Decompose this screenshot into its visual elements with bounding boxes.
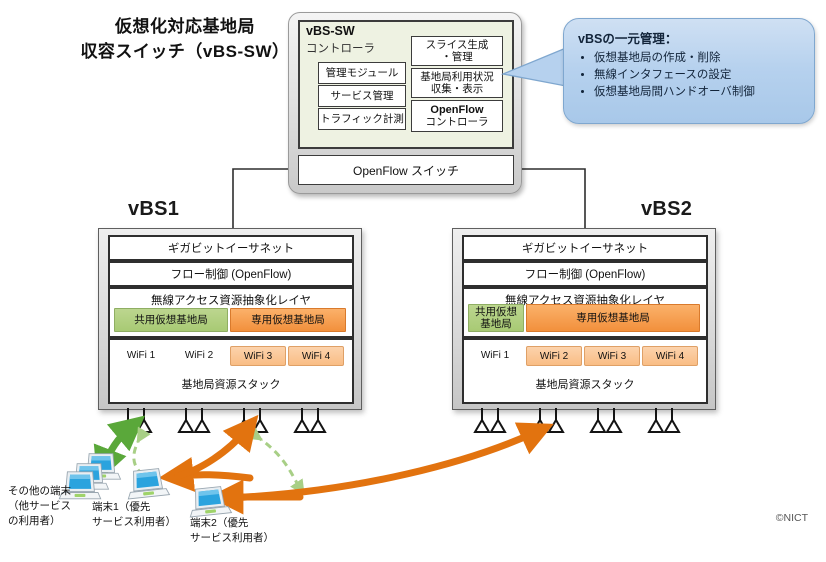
vbs2-shared-vbs-line1: 共用仮想 — [475, 306, 517, 318]
laptop-other-terminals-back — [81, 454, 120, 480]
controller-name: vBS-SW — [306, 24, 355, 38]
controller-subtitle: コントローラ — [306, 40, 375, 56]
callout-item-0: 仮想基地局の作成・削除 — [594, 50, 804, 67]
vbs2-wifi-4[interactable]: WiFi 4 — [642, 346, 698, 366]
copyright-credit: ©NICT — [776, 512, 808, 524]
module-service-management[interactable]: サービス管理 — [318, 85, 406, 107]
module-slice-generation-line2: ・管理 — [441, 51, 473, 63]
vbs1-abstraction-layer-title: 無線アクセス資源抽象化レイヤ — [110, 292, 352, 308]
page-title-line1: 仮想化対応基地局 — [60, 14, 310, 39]
module-usage-collection[interactable]: 基地局利用状況 収集・表示 — [411, 68, 503, 98]
terminal-caption-other-line2: （他サービス — [8, 499, 88, 514]
module-usage-collection-line2: 収集・表示 — [431, 83, 484, 95]
vbs2-dedicated-vbs[interactable]: 専用仮想基地局 — [526, 304, 700, 332]
terminal-caption-1: 端末1（優先 サービス利用者） — [92, 500, 192, 530]
vbs2-wifi-3[interactable]: WiFi 3 — [584, 346, 640, 366]
module-usage-collection-line1: 基地局利用状況 — [420, 71, 494, 83]
arrow-orange-handover-to-vbs2 — [228, 432, 536, 498]
vbs1-wifi-1[interactable]: WiFi 1 — [114, 346, 168, 364]
module-openflow-controller-line2: コントローラ — [426, 116, 489, 128]
callout-item-1: 無線インタフェースの設定 — [594, 67, 804, 84]
vbs2-label: vBS2 — [641, 198, 692, 221]
page-title-line2: 収容スイッチ（vBS-SW） — [60, 39, 310, 64]
terminal-caption-2-line2: サービス利用者） — [190, 531, 300, 546]
vbs1-antenna-4 — [295, 408, 325, 432]
laptop-terminal-1 — [126, 468, 170, 499]
vbs2-antenna-1 — [475, 408, 505, 432]
vbs1-wifi-4[interactable]: WiFi 4 — [288, 346, 344, 366]
callout-box: vBSの一元管理： 仮想基地局の作成・削除 無線インタフェースの設定 仮想基地局… — [563, 18, 815, 124]
vbs1-antenna-1 — [121, 408, 151, 432]
vbs1-stack-caption: 基地局資源スタック — [110, 376, 352, 392]
vbs2-wifi-1[interactable]: WiFi 1 — [468, 346, 522, 364]
vbs1-wifi-3[interactable]: WiFi 3 — [230, 346, 286, 366]
terminal-caption-1-line2: サービス利用者） — [92, 515, 192, 530]
callout-item-2: 仮想基地局間ハンドオーバ制御 — [594, 84, 804, 101]
vbs2-antenna-4 — [649, 408, 679, 432]
diagram-canvas: 仮想化対応基地局 収容スイッチ（vBS-SW） vBS-SW コントローラ 管理… — [0, 0, 826, 562]
module-traffic-measurement[interactable]: トラフィック計測 — [318, 108, 406, 130]
vbs2-shared-vbs[interactable]: 共用仮想 基地局 — [468, 304, 524, 332]
arrow-green-other-terminals — [103, 428, 130, 468]
module-openflow-controller[interactable]: OpenFlow コントローラ — [411, 100, 503, 132]
vbs2-flow-control-box[interactable]: フロー制御 (OpenFlow) — [462, 261, 708, 287]
vbs1-dedicated-vbs[interactable]: 専用仮想基地局 — [230, 308, 346, 332]
vbs1-wifi-2[interactable]: WiFi 2 — [172, 346, 226, 364]
vbs2-wifi-2[interactable]: WiFi 2 — [526, 346, 582, 366]
terminal-caption-other: その他の端末 （他サービス の利用者） — [8, 484, 88, 529]
module-openflow-controller-line1: OpenFlow — [430, 104, 483, 116]
vbs2-antenna-2 — [533, 408, 563, 432]
callout-heading: vBSの一元管理： — [578, 28, 804, 47]
arrow-orange-terminal-to-vbs1 — [178, 430, 246, 476]
laptop-terminal-2 — [188, 486, 232, 517]
module-slice-generation-line1: スライス生成 — [426, 39, 489, 51]
vbs2-shared-vbs-line2: 基地局 — [480, 318, 512, 330]
page-title: 仮想化対応基地局 収容スイッチ（vBS-SW） — [60, 14, 310, 64]
vbs1-ethernet-box[interactable]: ギガビットイーサネット — [108, 235, 354, 261]
vbs2-stack-caption: 基地局資源スタック — [464, 376, 706, 392]
module-slice-generation[interactable]: スライス生成 ・管理 — [411, 36, 503, 66]
terminal-caption-other-line1: その他の端末 — [8, 484, 88, 499]
openflow-switch-box[interactable]: OpenFlow スイッチ — [298, 155, 514, 185]
vbs2-ethernet-box[interactable]: ギガビットイーサネット — [462, 235, 708, 261]
vbs1-label: vBS1 — [128, 198, 179, 221]
arrow-green-dashed-terminal2 — [256, 436, 300, 488]
terminal-caption-2: 端末2（優先 サービス利用者） — [190, 516, 300, 546]
callout-list: 仮想基地局の作成・削除 無線インタフェースの設定 仮想基地局間ハンドオーバ制御 — [578, 50, 804, 101]
module-management[interactable]: 管理モジュール — [318, 62, 406, 84]
vbs1-antenna-2 — [179, 408, 209, 432]
terminal-caption-1-line1: 端末1（優先 — [92, 500, 192, 515]
arrow-orange-to-terminal1 — [178, 475, 250, 478]
vbs1-antenna-3 — [237, 408, 267, 432]
terminal-caption-2-line1: 端末2（優先 — [190, 516, 300, 531]
vbs1-flow-control-box[interactable]: フロー制御 (OpenFlow) — [108, 261, 354, 287]
vbs2-antenna-3 — [591, 408, 621, 432]
terminal-caption-other-line3: の利用者） — [8, 514, 88, 529]
arrow-green-dashed-terminal1 — [134, 436, 148, 478]
vbs1-shared-vbs[interactable]: 共用仮想基地局 — [114, 308, 228, 332]
